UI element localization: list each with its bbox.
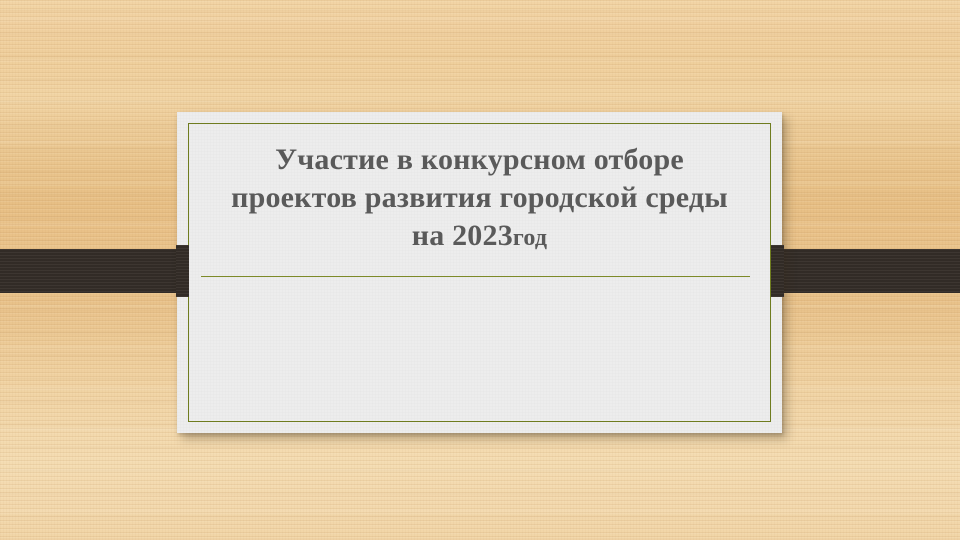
title-line-3: на 2023год (199, 217, 760, 257)
ribbon-cap-right (771, 245, 784, 297)
title-slide: Участие в конкурсном отборе проектов раз… (0, 0, 960, 540)
slide-title: Участие в конкурсном отборе проектов раз… (199, 141, 760, 257)
title-line-3-suffix: год (513, 225, 547, 251)
title-card: Участие в конкурсном отборе проектов раз… (177, 112, 782, 433)
ribbon-cap-left (176, 245, 189, 297)
title-line-1: Участие в конкурсном отборе (199, 141, 760, 179)
title-line-2: проектов развития городской среды (199, 179, 760, 217)
title-divider-rule (201, 276, 750, 277)
title-line-3-main: на 2023 (412, 219, 513, 252)
